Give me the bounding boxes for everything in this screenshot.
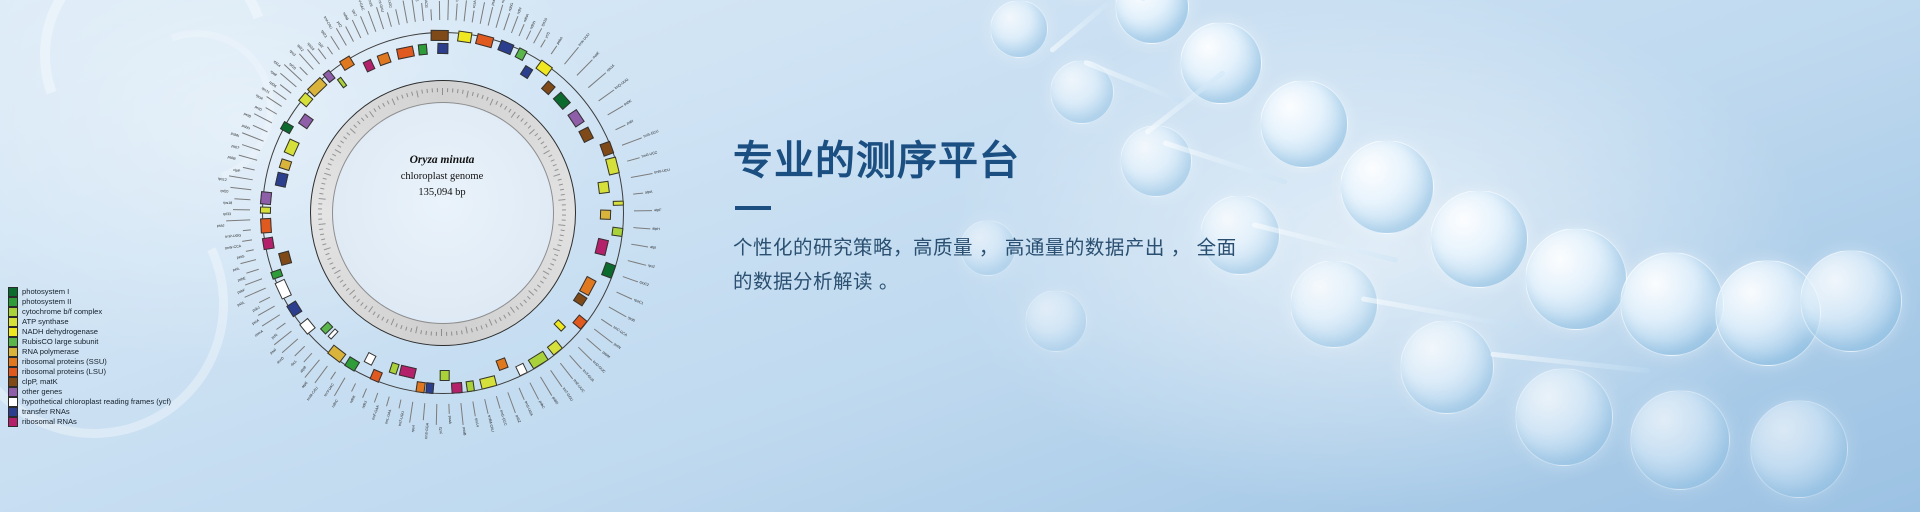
banner-root: psbAtrnK-UUUmatKrps16trnQ-UUGpsbKpsbItrn… — [0, 0, 1920, 512]
legend-label: cytochrome b/f complex — [22, 307, 102, 316]
legend-item: other genes — [8, 387, 171, 396]
legend-item: clpP, matK — [8, 377, 171, 386]
legend-item: photosystem II — [8, 297, 171, 306]
genome-legend: photosystem Iphotosystem IIcytochrome b/… — [8, 287, 171, 427]
genome-subtitle: chloroplast genome — [332, 169, 552, 185]
legend-label: hypothetical chloroplast reading frames … — [22, 397, 171, 406]
legend-label: RNA polymerase — [22, 347, 79, 356]
legend-label: ribosomal proteins (LSU) — [22, 367, 106, 376]
legend-item: photosystem I — [8, 287, 171, 296]
legend-swatch — [8, 297, 18, 307]
legend-swatch — [8, 337, 18, 347]
legend-item: transfer RNAs — [8, 407, 171, 416]
legend-label: ribosomal proteins (SSU) — [22, 357, 107, 366]
genome-species-name: Oryza minuta — [332, 152, 552, 169]
legend-label: photosystem I — [22, 287, 69, 296]
legend-item: RNA polymerase — [8, 347, 171, 356]
chloroplast-genome-map: psbAtrnK-UUUmatKrps16trnQ-UUGpsbKpsbItrn… — [232, 2, 652, 422]
title-divider — [735, 206, 771, 210]
legend-swatch — [8, 407, 18, 417]
legend-item: hypothetical chloroplast reading frames … — [8, 397, 171, 406]
legend-label: clpP, matK — [22, 377, 58, 386]
legend-item: ATP synthase — [8, 317, 171, 326]
legend-item: ribosomal proteins (LSU) — [8, 367, 171, 376]
genome-center-label: Oryza minuta chloroplast genome 135,094 … — [332, 152, 552, 201]
legend-item: ribosomal proteins (SSU) — [8, 357, 171, 366]
legend-swatch — [8, 397, 18, 407]
legend-swatch — [8, 417, 18, 427]
genome-center-disc — [332, 102, 554, 324]
legend-item: RubisCO large subunit — [8, 337, 171, 346]
legend-swatch — [8, 367, 18, 377]
legend-label: other genes — [22, 387, 62, 396]
page-title: 专业的测序平台 — [733, 138, 1293, 184]
legend-label: ATP synthase — [22, 317, 69, 326]
legend-label: transfer RNAs — [22, 407, 70, 416]
legend-swatch — [8, 307, 18, 317]
banner-paragraph: 个性化的研究策略，高质量 ， 高通量的数据产出 ， 全面 的数据分析解读 。 — [733, 232, 1293, 299]
legend-label: photosystem II — [22, 297, 71, 306]
legend-swatch — [8, 377, 18, 387]
legend-swatch — [8, 317, 18, 327]
paragraph-line-2: 的数据分析解读 。 — [733, 271, 899, 293]
legend-label: RubisCO large subunit — [22, 337, 98, 346]
legend-swatch — [8, 287, 18, 297]
paragraph-line-1: 个性化的研究策略，高质量 ， 高通量的数据产出 ， 全面 — [733, 237, 1237, 259]
legend-swatch — [8, 357, 18, 367]
legend-item: cytochrome b/f complex — [8, 307, 171, 316]
legend-swatch — [8, 387, 18, 397]
legend-swatch — [8, 347, 18, 357]
legend-item: ribosomal RNAs — [8, 417, 171, 426]
legend-swatch — [8, 327, 18, 337]
genome-length: 135,094 bp — [332, 185, 552, 201]
legend-label: ribosomal RNAs — [22, 417, 77, 426]
legend-label: NADH dehydrogenase — [22, 327, 98, 336]
banner-copy: 专业的测序平台 个性化的研究策略，高质量 ， 高通量的数据产出 ， 全面 的数据… — [733, 138, 1293, 299]
legend-item: NADH dehydrogenase — [8, 327, 171, 336]
